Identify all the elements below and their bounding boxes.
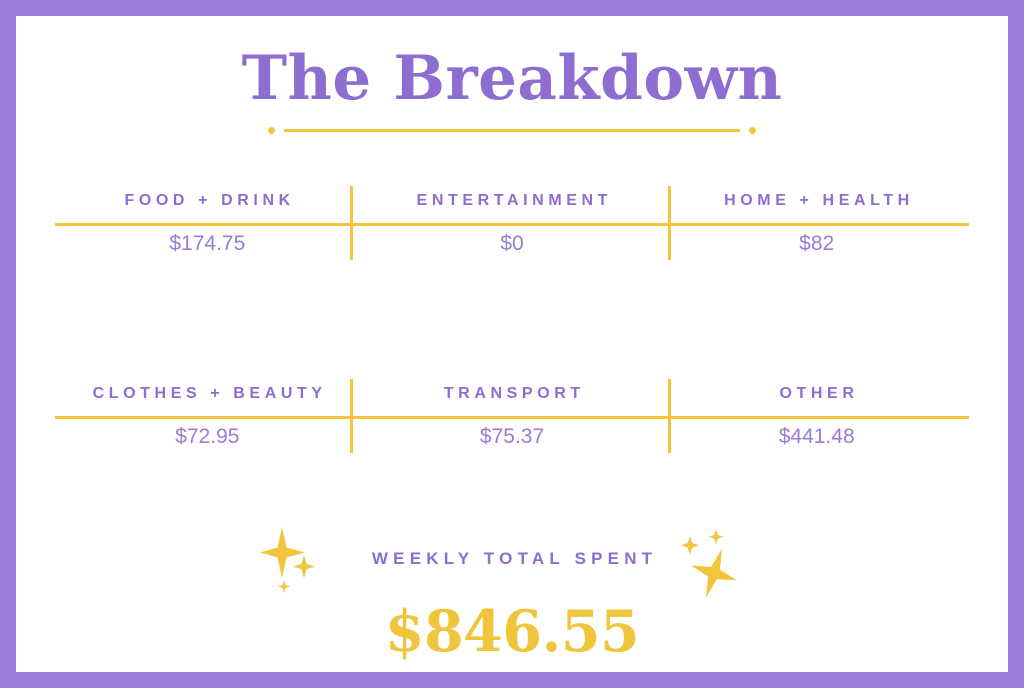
category-amount: $0 [500, 233, 523, 255]
category-amount: $75.37 [480, 426, 544, 448]
category-label: FOOD + DRINK [120, 186, 295, 216]
category-label: ENTERTAINMENT [412, 186, 612, 216]
weekly-total-block: WEEKLY TOTAL SPENT $846.55 [16, 521, 1008, 660]
category-cell-entertainment: ENTERTAINMENT $0 [360, 186, 665, 264]
category-amount: $174.75 [169, 233, 245, 255]
category-row: FOOD + DRINK $174.75 ENTERTAINMENT $0 HO… [55, 186, 969, 264]
category-label: CLOTHES + BEAUTY [88, 379, 327, 409]
rule-dot-right-icon [749, 127, 756, 134]
total-label-row: WEEKLY TOTAL SPENT [16, 521, 1008, 597]
poster-inner-card: The Breakdown FOOD + DRINK $174.75 ENTER… [16, 16, 1008, 672]
row-cells: FOOD + DRINK $174.75 ENTERTAINMENT $0 HO… [55, 186, 969, 264]
page-title: The Breakdown [16, 48, 1008, 109]
category-label: HOME + HEALTH [720, 186, 914, 216]
category-amount: $72.95 [175, 426, 239, 448]
category-cell-transport: TRANSPORT $75.37 [360, 379, 665, 457]
category-cell-clothes-beauty: CLOTHES + BEAUTY $72.95 [55, 379, 360, 457]
title-block: The Breakdown [16, 48, 1008, 134]
rule-dot-left-icon [268, 127, 275, 134]
category-cell-home-health: HOME + HEALTH $82 [664, 186, 969, 264]
total-amount: $846.55 [16, 603, 1008, 660]
sparkle-cluster-left-icon [260, 521, 352, 597]
category-label: OTHER [775, 379, 859, 409]
expense-breakdown-poster: The Breakdown FOOD + DRINK $174.75 ENTER… [0, 0, 1024, 688]
category-cell-other: OTHER $441.48 [664, 379, 969, 457]
category-row: CLOTHES + BEAUTY $72.95 TRANSPORT $75.37… [55, 379, 969, 457]
category-cell-food-drink: FOOD + DRINK $174.75 [55, 186, 360, 264]
category-amount: $441.48 [779, 426, 855, 448]
row-cells: CLOTHES + BEAUTY $72.95 TRANSPORT $75.37… [55, 379, 969, 457]
sparkle-cluster-right-icon [672, 521, 764, 597]
title-divider-rule [16, 127, 1008, 134]
category-amount: $82 [799, 233, 834, 255]
category-label: TRANSPORT [439, 379, 585, 409]
rule-line [284, 129, 740, 132]
total-label: WEEKLY TOTAL SPENT [367, 549, 658, 569]
